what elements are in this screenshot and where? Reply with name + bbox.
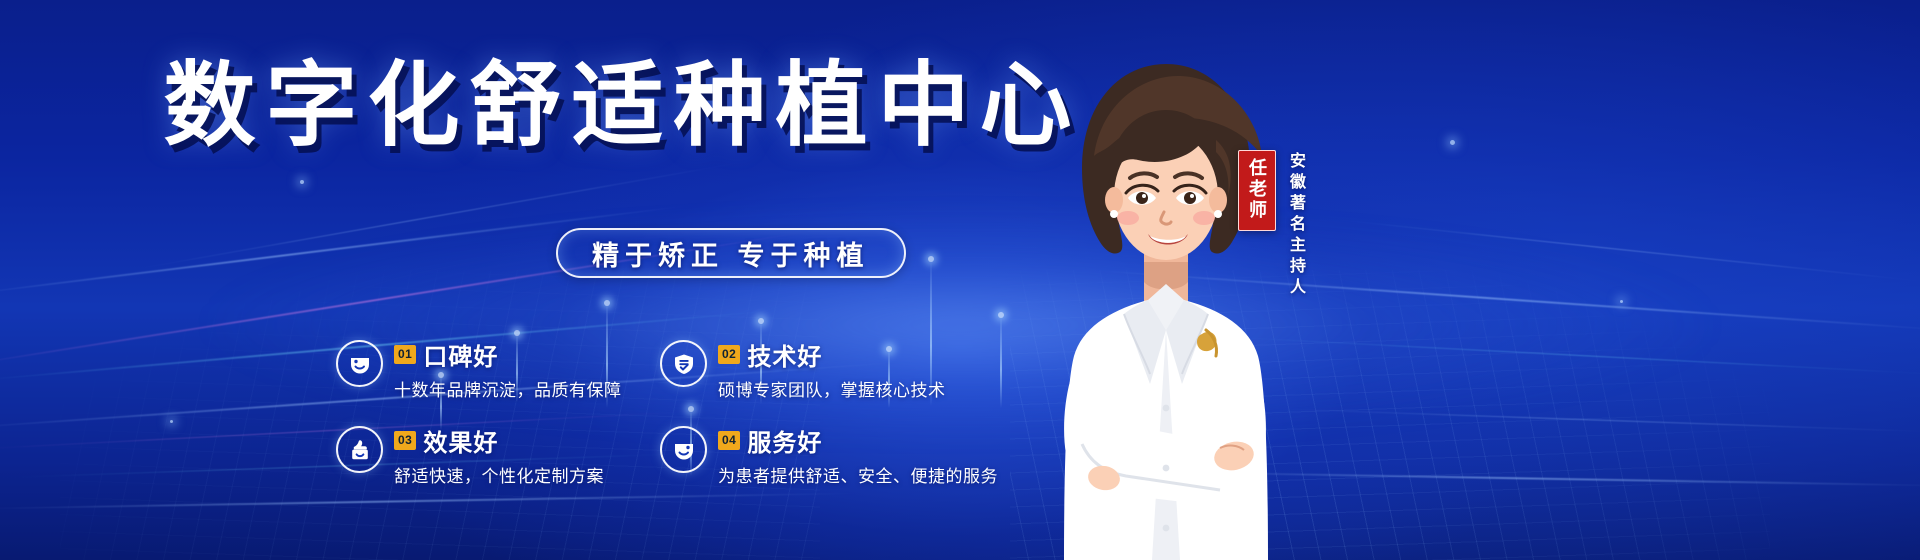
- feature-number-badge: 03: [394, 431, 416, 450]
- feature-title: 效果好: [423, 423, 498, 458]
- feature-heading: 02 技术好: [718, 337, 946, 372]
- feature-description: 硕博专家团队，掌握核心技术: [718, 376, 946, 401]
- shield-check-icon: [660, 340, 707, 387]
- smile-face-icon: [660, 426, 707, 473]
- feature-title: 服务好: [747, 423, 822, 458]
- bokeh-dot: [1620, 300, 1623, 303]
- feature-number-badge: 04: [718, 431, 740, 450]
- presenter-credit-text: 安徽著名主持人: [1283, 150, 1307, 299]
- bokeh-dot: [300, 180, 304, 184]
- feature-heading: 03 效果好: [394, 423, 604, 458]
- feature-number-badge: 02: [718, 345, 740, 364]
- feature-body: 01 口碑好 十数年品牌沉淀，品质有保障: [394, 336, 622, 401]
- feature-description: 十数年品牌沉淀，品质有保障: [394, 376, 622, 401]
- feature-body: 03 效果好 舒适快速，个性化定制方案: [394, 422, 604, 487]
- thumbs-up-icon: [336, 426, 383, 473]
- feature-heading: 01 口碑好: [394, 337, 622, 372]
- feature-item: 01 口碑好 十数年品牌沉淀，品质有保障: [336, 336, 660, 412]
- light-streak: [1322, 218, 1920, 284]
- feature-item: 03 效果好 舒适快速，个性化定制方案: [336, 422, 660, 498]
- feature-number-badge: 01: [394, 345, 416, 364]
- presenter-name-badge: 任老师: [1238, 150, 1276, 231]
- presenter-illustration: [1020, 48, 1310, 560]
- feature-body: 02 技术好 硕博专家团队，掌握核心技术: [718, 336, 946, 401]
- dental-clinic-banner: 数字化舒适种植中心 精于矫正 专于种植 01 口碑好 十数年品牌沉淀，品质有保障: [0, 0, 1920, 560]
- feature-item: 02 技术好 硕博专家团队，掌握核心技术: [660, 336, 984, 412]
- feature-list: 01 口碑好 十数年品牌沉淀，品质有保障 02 技术好: [336, 336, 976, 498]
- vertical-beam: [1000, 312, 1002, 408]
- presenter-credit: 任老师 安徽著名主持人: [1238, 150, 1307, 299]
- bokeh-dot: [1450, 140, 1455, 145]
- bokeh-dot: [170, 420, 173, 423]
- feature-heading: 04 服务好: [718, 423, 998, 458]
- page-title: 数字化舒适种植中心: [163, 58, 1081, 155]
- light-streak: [1260, 408, 1920, 433]
- feature-body: 04 服务好 为患者提供舒适、安全、便捷的服务: [718, 422, 998, 487]
- feature-title: 口碑好: [423, 337, 498, 372]
- feature-item: 04 服务好 为患者提供舒适、安全、便捷的服务: [660, 422, 984, 498]
- feature-description: 舒适快速，个性化定制方案: [394, 462, 604, 487]
- subtitle-pill: 精于矫正 专于种植: [556, 228, 906, 278]
- feature-description: 为患者提供舒适、安全、便捷的服务: [718, 462, 998, 487]
- subtitle-text: 精于矫正 专于种植: [592, 234, 870, 273]
- smile-face-icon: [336, 340, 383, 387]
- feature-title: 技术好: [747, 337, 822, 372]
